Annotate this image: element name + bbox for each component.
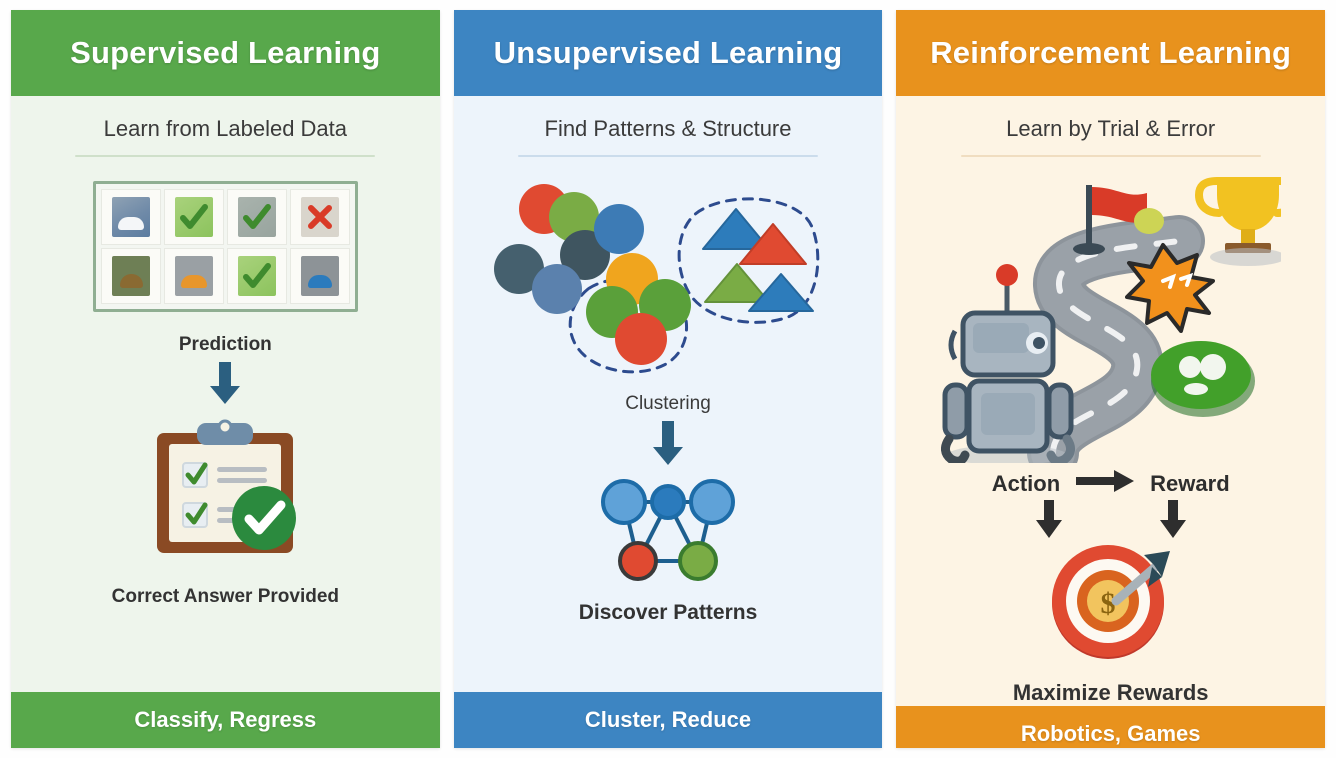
panel-title-reinforcement: Reinforcement Learning [896,10,1325,96]
check-icon [238,256,276,296]
grid-cell [101,189,161,245]
down-arrow-icon [1159,500,1187,543]
panel-body-unsupervised: Find Patterns & Structure [454,96,883,692]
grid-cell [290,189,350,245]
subtitle-divider [961,155,1261,157]
grid-cell [164,189,224,245]
check-icon [238,197,276,237]
grid-cell [101,248,161,304]
panel-footer-supervised: Classify, Regress [11,692,440,748]
clipboard-checklist-icon [145,419,305,562]
clustering-label: Clustering [625,393,711,415]
maximize-rewards-label: Maximize Rewards [1013,680,1209,706]
action-reward-arrows [1035,500,1187,543]
object-thumbnail-icon [112,256,150,296]
panel-subtitle-unsupervised: Find Patterns & Structure [545,116,792,142]
panel-subtitle-reinforcement: Learn by Trial & Error [1006,116,1215,142]
down-arrow-icon [650,421,686,470]
panel-body-reinforcement: Learn by Trial & Error [896,96,1325,706]
object-thumbnail-icon [175,256,213,296]
reward-label: Reward [1150,471,1229,497]
scatter-cluster-icon [488,169,848,389]
panel-footer-reinforcement: Robotics, Games [896,706,1325,748]
check-thumbnail [238,256,276,296]
panel-title-unsupervised: Unsupervised Learning [454,10,883,96]
grid-cell [227,189,287,245]
close-icon [301,197,339,237]
panel-supervised-learning: Supervised Learning Learn from Labeled D… [11,10,440,748]
down-arrow-icon [1035,500,1063,543]
subtitle-divider [75,155,375,157]
subtitle-divider [518,155,818,157]
network-graph-icon [598,476,738,591]
panel-body-supervised: Learn from Labeled Data Prediction [11,96,440,692]
prediction-label: Prediction [179,334,272,356]
check-thumbnail [238,197,276,237]
grid-cell [290,248,350,304]
sky-thumbnail-icon [112,197,150,237]
labeled-image-grid [93,181,358,312]
grid-cell [164,248,224,304]
action-reward-row: Action Reward [992,470,1230,498]
check-icon [175,197,213,237]
dartboard-target-icon: $ [1036,543,1186,670]
discover-patterns-label: Discover Patterns [579,601,758,625]
infographic-board: Supervised Learning Learn from Labeled D… [0,0,1336,758]
object-thumbnail-icon [301,256,339,296]
robot-road-scene [941,163,1281,468]
action-label: Action [992,471,1060,497]
cross-thumbnail [301,197,339,237]
panel-reinforcement-learning: Reinforcement Learning Learn by Trial & … [896,10,1325,748]
panel-unsupervised-learning: Unsupervised Learning Find Patterns & St… [454,10,883,748]
panel-title-supervised: Supervised Learning [11,10,440,96]
right-arrow-icon [1076,470,1134,498]
grid-cell [227,248,287,304]
correct-answer-label: Correct Answer Provided [112,586,339,608]
down-arrow-icon [207,362,243,409]
panel-subtitle-supervised: Learn from Labeled Data [104,116,347,142]
panel-footer-unsupervised: Cluster, Reduce [454,692,883,748]
check-thumbnail [175,197,213,237]
